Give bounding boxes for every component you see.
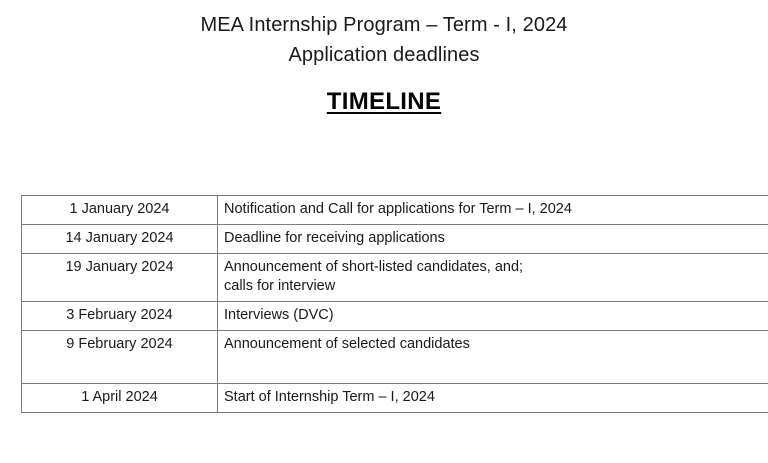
table-row: 19 January 2024 Announcement of short-li… [22, 254, 768, 302]
document-page: MEA Internship Program – Term - I, 2024 … [0, 0, 768, 463]
timeline-description-cell: Notification and Call for applications f… [218, 196, 768, 225]
timeline-description-cell: Interviews (DVC) [218, 302, 768, 331]
table-row: 1 April 2024 Start of Internship Term – … [22, 384, 768, 413]
table-row: 3 February 2024 Interviews (DVC) [22, 302, 768, 331]
timeline-date-cell: 1 January 2024 [22, 196, 218, 225]
timeline-description-line: Notification and Call for applications f… [224, 200, 768, 219]
timeline-date-cell: 3 February 2024 [22, 302, 218, 331]
timeline-description-cell: Start of Internship Term – I, 2024 [218, 384, 768, 413]
timeline-date-cell: 14 January 2024 [22, 225, 218, 254]
timeline-date-cell: 1 April 2024 [22, 384, 218, 413]
timeline-date-cell: 19 January 2024 [22, 254, 218, 302]
timeline-description-line-continued: calls for interview [224, 277, 768, 296]
empty-line-spacer [224, 354, 768, 378]
table-row: 9 February 2024 Announcement of selected… [22, 331, 768, 384]
timeline-table: 1 January 2024 Notification and Call for… [21, 195, 768, 413]
table-row: 14 January 2024 Deadline for receiving a… [22, 225, 768, 254]
timeline-description-line: Start of Internship Term – I, 2024 [224, 388, 768, 407]
timeline-description-cell: Announcement of selected candidates [218, 331, 768, 384]
timeline-description-cell: Announcement of short-listed candidates,… [218, 254, 768, 302]
timeline-section-heading: TIMELINE [327, 88, 441, 116]
table-row: 1 January 2024 Notification and Call for… [22, 196, 768, 225]
timeline-table-area: 1 January 2024 Notification and Call for… [21, 195, 757, 413]
timeline-description-line: Interviews (DVC) [224, 306, 768, 325]
timeline-description-line: Deadline for receiving applications [224, 229, 768, 248]
timeline-description-line: Announcement of short-listed candidates,… [224, 258, 768, 277]
document-header: MEA Internship Program – Term - I, 2024 … [0, 0, 768, 116]
timeline-description-line: Announcement of selected candidates [224, 335, 768, 354]
document-subtitle: Application deadlines [0, 40, 768, 70]
timeline-date-cell: 9 February 2024 [22, 331, 218, 384]
document-title: MEA Internship Program – Term - I, 2024 [0, 10, 768, 40]
section-heading-wrapper: TIMELINE [0, 88, 768, 116]
timeline-description-cell: Deadline for receiving applications [218, 225, 768, 254]
